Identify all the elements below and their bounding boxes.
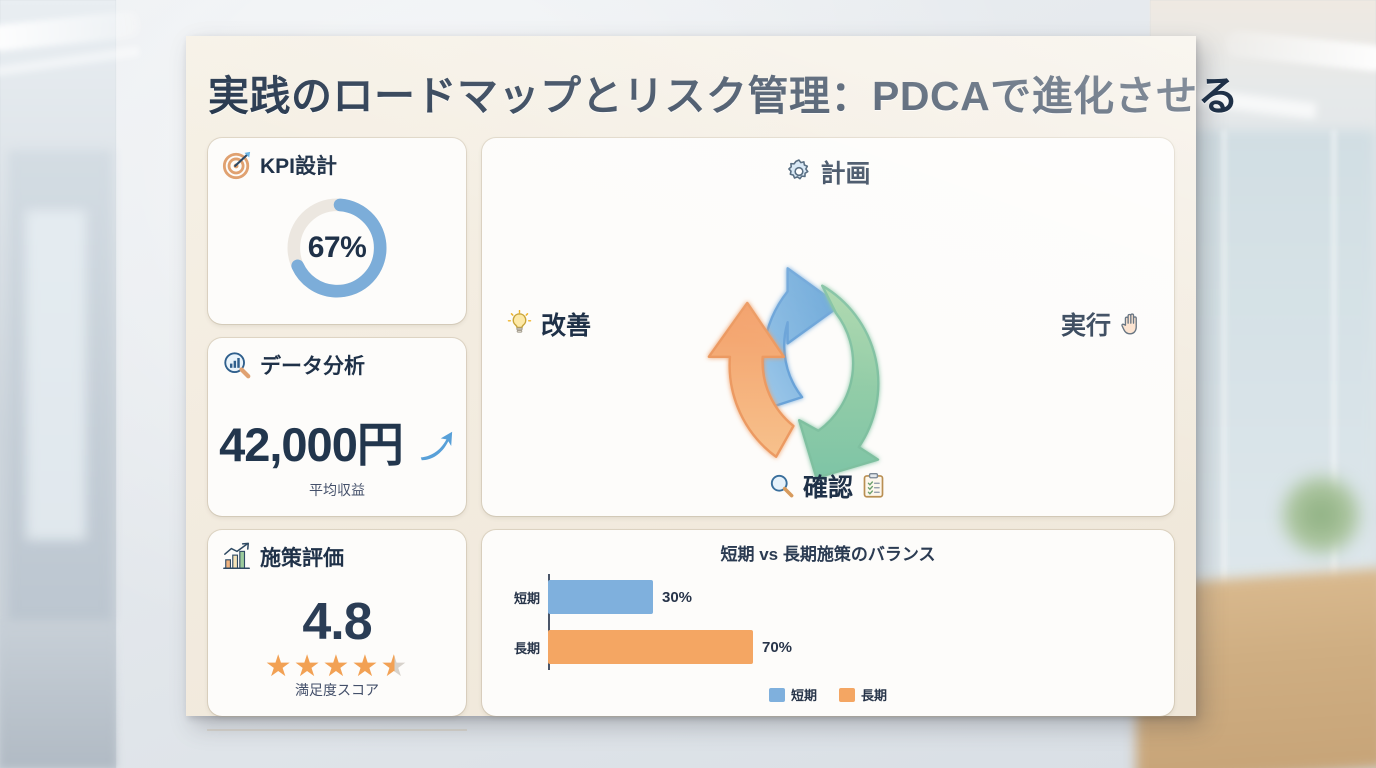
bar-category-label: 短期 (504, 588, 548, 607)
legend-item-long: 長期 (839, 685, 887, 704)
data-analysis-caption: 平均収益 (208, 480, 466, 500)
star-icon: ★ (294, 650, 323, 683)
rating-card: 施策評価 4.8 ★★★★★ 満足度スコア (208, 530, 466, 716)
star-icon: ★ (351, 650, 380, 683)
pdca-cycle-panel: 計画 実行 確認 (482, 138, 1174, 516)
legend-label: 長期 (861, 685, 887, 704)
magnifier-chart-icon (222, 350, 252, 380)
kpi-gauge-wrapper: 67% (208, 194, 466, 302)
hand-icon (1118, 310, 1146, 338)
pdca-label-act: 改善 (506, 306, 591, 342)
bar-chart-plot: 短期 30% 長期 70% (504, 574, 1160, 672)
kpi-gauge-value: 67% (283, 194, 391, 302)
star-half-icon: ★ (380, 650, 409, 683)
pdca-label-act-text: 改善 (541, 306, 591, 342)
bar-row-long: 長期 70% (504, 630, 1160, 664)
data-analysis-value: 42,000円 (219, 418, 403, 471)
balance-bar-chart-card: 短期 vs 長期施策のバランス 短期 30% 長期 70% (482, 530, 1174, 716)
star-icon: ★ (265, 650, 294, 683)
pdca-label-check-text: 確認 (803, 468, 853, 504)
gear-icon (785, 158, 813, 186)
bar-value-label: 30% (662, 589, 692, 606)
star-icon: ★ (323, 650, 352, 683)
bar-value-label: 70% (762, 639, 792, 656)
pdca-label-plan: 計画 (785, 154, 870, 190)
trend-up-arrow-icon (417, 421, 455, 476)
rating-card-header: 施策評価 (222, 542, 452, 572)
pdca-label-do: 実行 (1061, 306, 1146, 342)
kpi-card-header: KPI設計 (222, 150, 452, 180)
target-dart-icon (222, 150, 252, 180)
legend-item-short: 短期 (769, 685, 817, 704)
bar-short (548, 580, 653, 614)
magnifier-icon (768, 472, 796, 500)
infographic-board: 実践のロードマップとリスク管理：PDCAで進化させる KPI設計 (186, 36, 1196, 716)
bar-long (548, 630, 753, 664)
background-left-corridor (0, 0, 116, 768)
bar-category-label: 長期 (504, 638, 548, 657)
legend-swatch (839, 688, 855, 702)
legend-swatch (769, 688, 785, 702)
rating-card-title: 施策評価 (260, 542, 344, 572)
pdca-label-do-text: 実行 (1061, 306, 1111, 342)
clipboard-icon (860, 472, 888, 500)
kpi-card-title: KPI設計 (260, 150, 337, 180)
kpi-card: KPI設計 67% (208, 138, 466, 324)
content-grid: KPI設計 67% (208, 138, 1174, 730)
data-analysis-header: データ分析 (222, 350, 452, 380)
rating-stars: ★★★★★ (208, 652, 466, 682)
data-analysis-value-row: 42,000円 (208, 406, 466, 476)
rating-value: 4.8 (208, 592, 466, 652)
pdca-label-check: 確認 (768, 468, 888, 504)
pdca-label-plan-text: 計画 (820, 154, 870, 190)
data-analysis-card: データ分析 42,000円 平均収益 (208, 338, 466, 516)
data-analysis-title: データ分析 (260, 350, 365, 380)
legend-label: 短期 (791, 685, 817, 704)
rating-caption: 満足度スコア (208, 680, 466, 700)
bar-chart-title: 短期 vs 長期施策のバランス (482, 540, 1174, 565)
bar-chart-legend: 短期 長期 (482, 685, 1174, 704)
bar-row-short: 短期 30% (504, 580, 1160, 614)
page-title: 実践のロードマップとリスク管理：PDCAで進化させる (208, 56, 1174, 138)
bar-chart-growth-icon (222, 542, 252, 572)
lightbulb-icon (506, 310, 534, 338)
kpi-donut-gauge: 67% (283, 194, 391, 302)
